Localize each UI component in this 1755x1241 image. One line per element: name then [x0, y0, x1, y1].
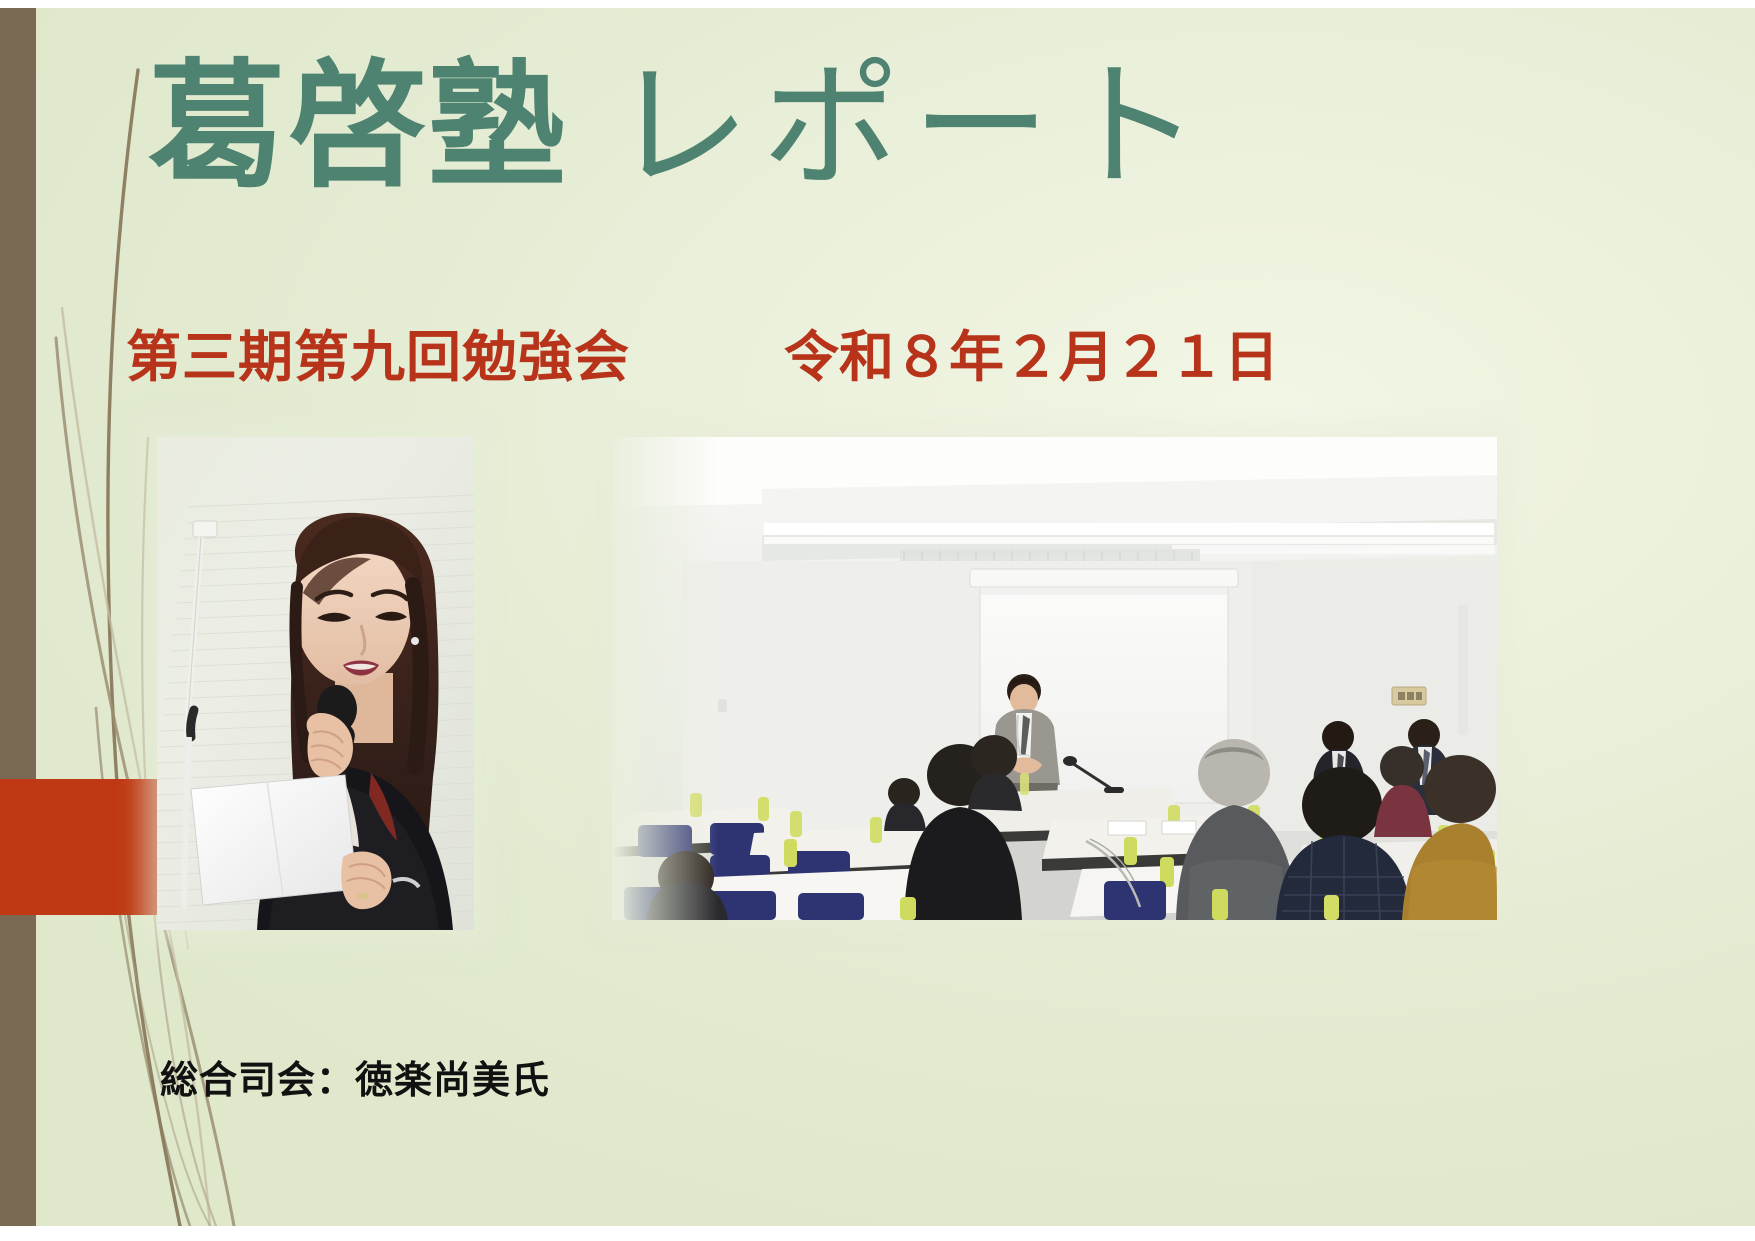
title-kanji: 葛啓塾: [148, 58, 568, 196]
subtitle-row: 第三期第九回勉強会 令和８年２月２１日: [126, 322, 1526, 392]
top-white-margin: [0, 0, 1755, 8]
taupe-side-bar: [0, 8, 36, 1226]
subtitle-session-label: 第三期第九回勉強会: [126, 330, 630, 385]
photo-seminar-room: [612, 437, 1497, 920]
subtitle-date-label: 令和８年２月２１日: [784, 330, 1279, 385]
orange-accent-rectangle: [0, 779, 158, 915]
title-kana: レポート: [612, 58, 1212, 196]
page-title: 葛啓塾 レポート: [148, 44, 1548, 209]
slide-canvas: 葛啓塾 レポート 第三期第九回勉強会 令和８年２月２１日: [0, 0, 1755, 1241]
photo-mc-speaking: [157, 437, 474, 930]
photo-caption: 総合司会：徳楽尚美氏: [160, 1061, 550, 1099]
bottom-white-margin: [0, 1226, 1755, 1241]
